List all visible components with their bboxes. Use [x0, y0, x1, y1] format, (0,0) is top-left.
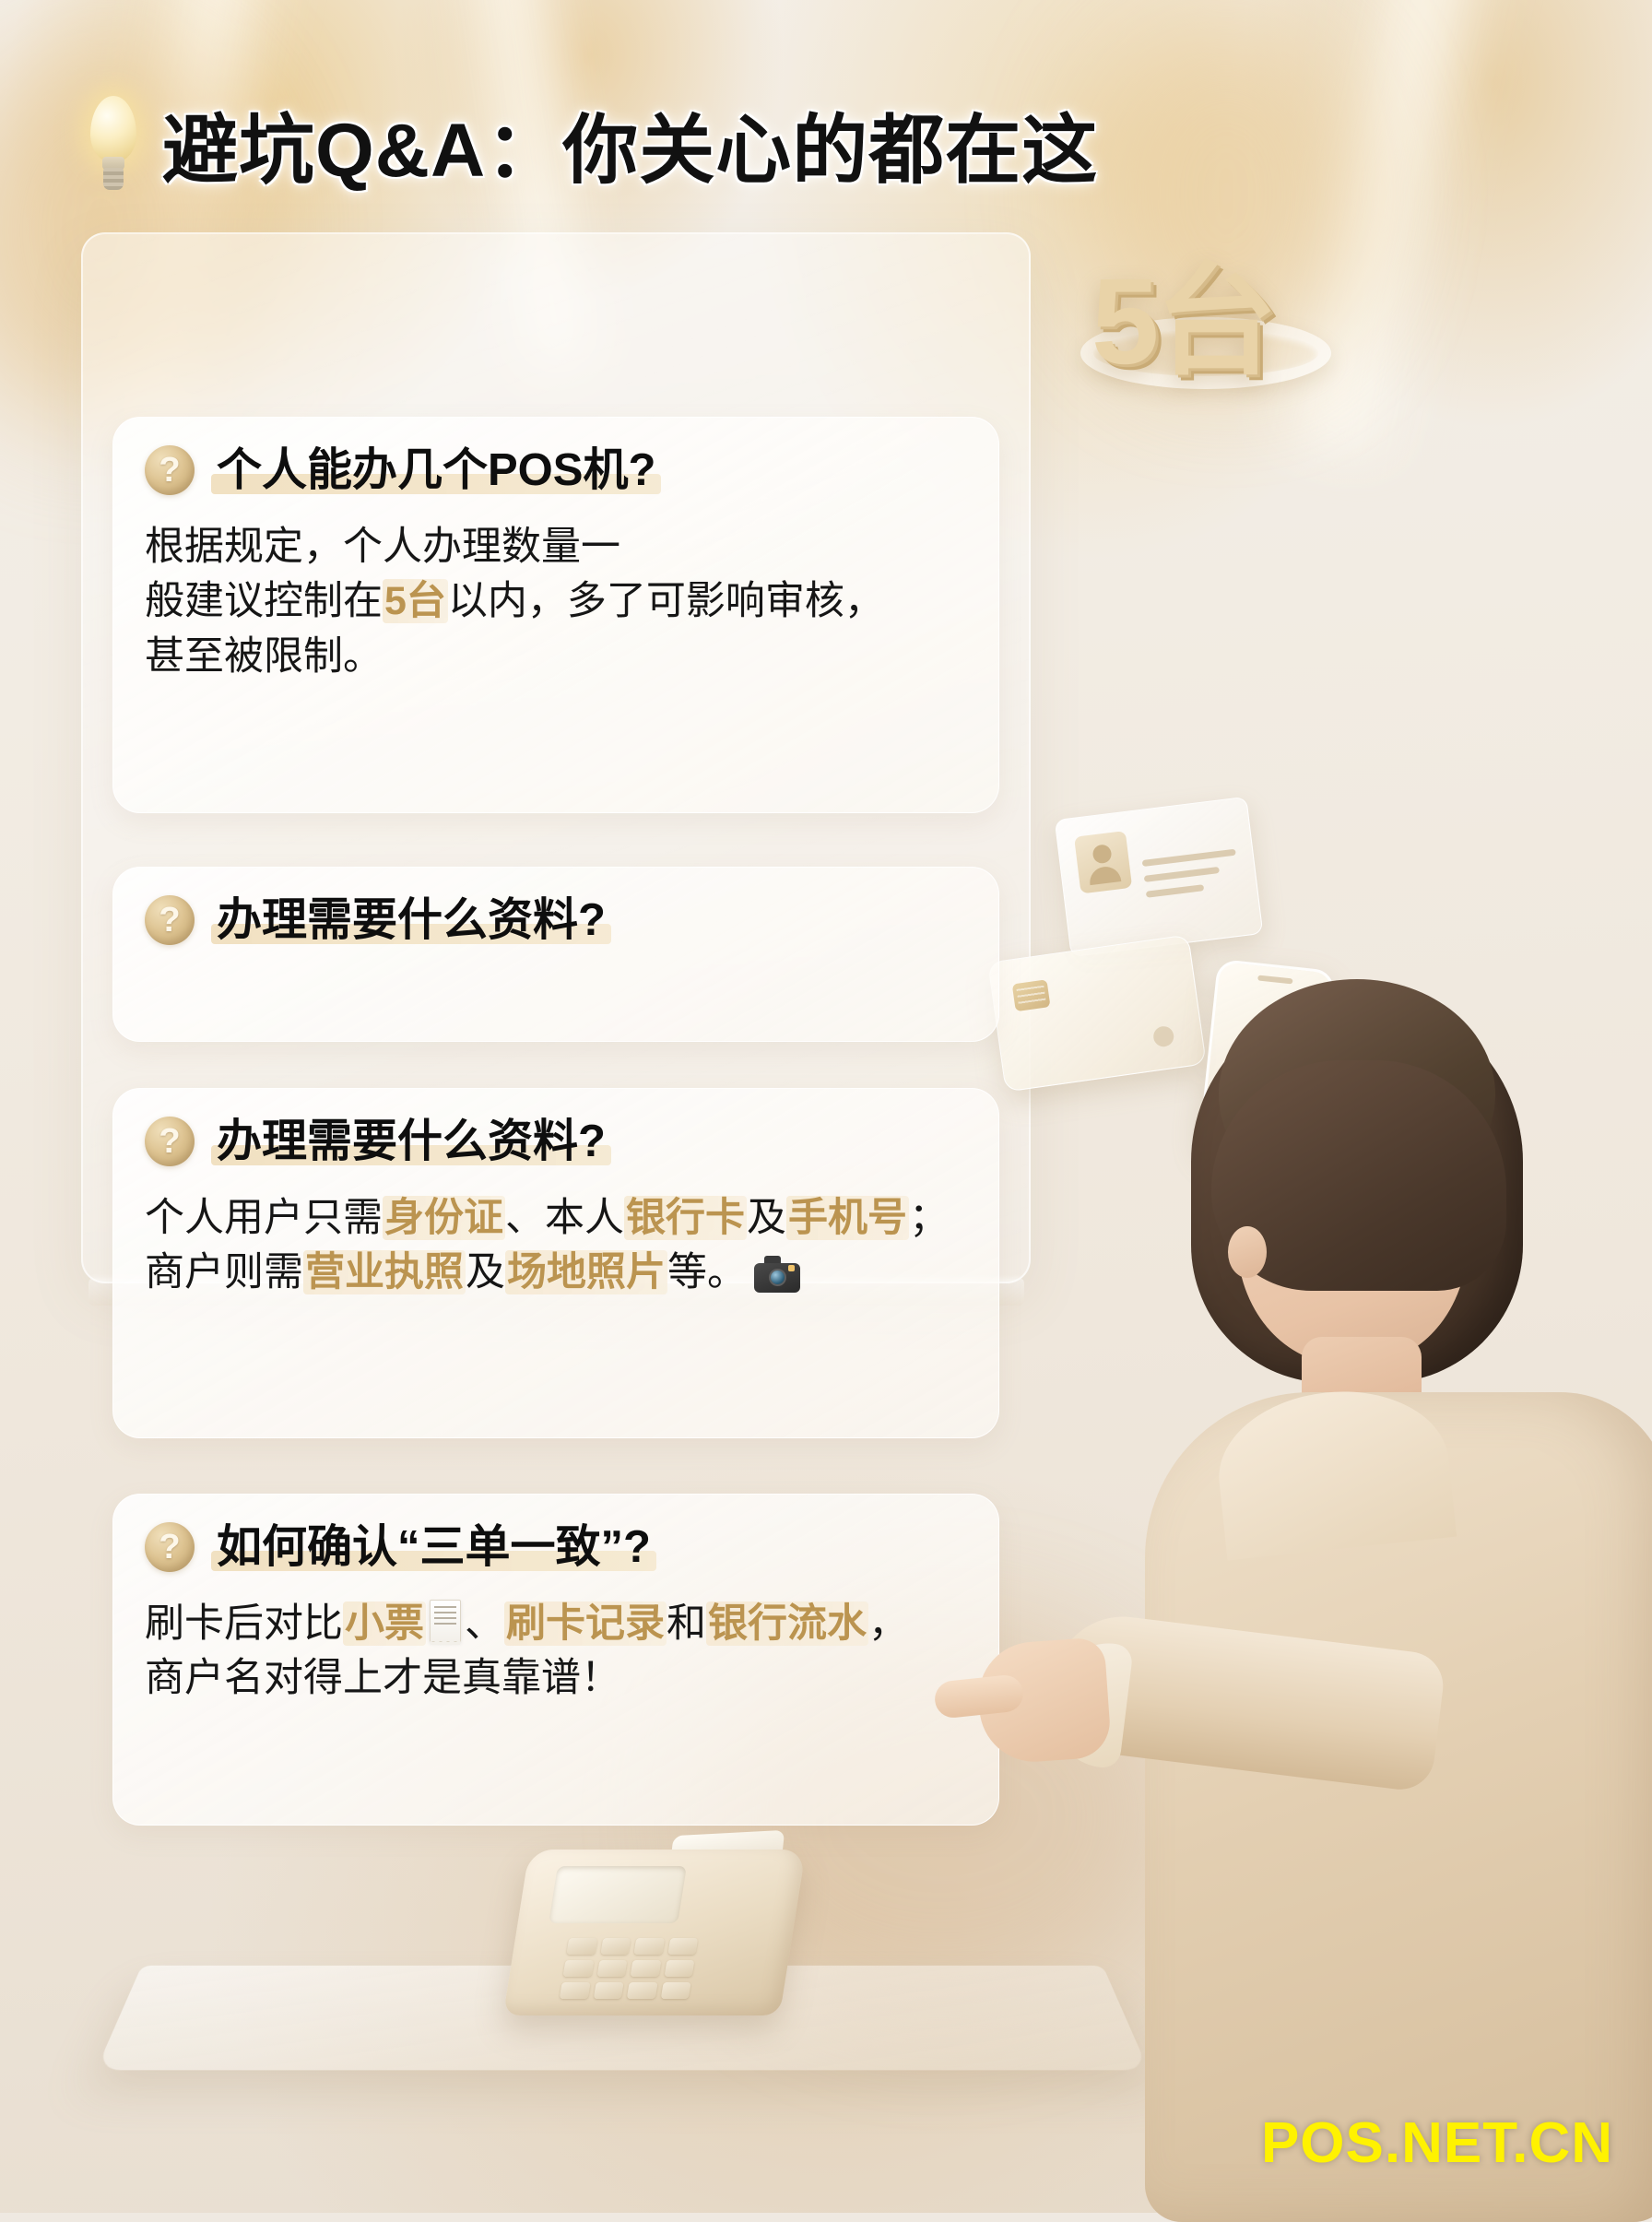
highlight-card-record: 刷卡记录	[504, 1601, 667, 1646]
question-mark-icon: ?	[145, 1522, 195, 1572]
question-row: ? 个人能办几个POS机?	[145, 445, 963, 496]
question-row: ? 如何确认“三单一致”?	[145, 1522, 963, 1573]
pos-keypad	[560, 1938, 698, 1999]
question-row: ? 办理需要什么资料?	[145, 1117, 963, 1167]
answer-text: 个人用户只需身份证、本人银行卡及手机号； 商户则需营业执照及场地照片等。	[145, 1191, 963, 1301]
receipt-icon	[430, 1600, 461, 1642]
pos-screen	[549, 1866, 687, 1923]
highlight-business-license: 营业执照	[303, 1250, 466, 1294]
camera-icon	[754, 1256, 800, 1293]
watermark: POS.NET.CN	[1261, 2110, 1613, 2176]
question-mark-icon: ?	[145, 895, 195, 945]
lightbulb-icon	[85, 96, 142, 192]
question-mark-icon: ?	[145, 1117, 195, 1166]
ear	[1228, 1226, 1267, 1278]
highlight-bank-card: 银行卡	[624, 1196, 747, 1240]
id-photo	[1074, 831, 1132, 893]
qa-card-1[interactable]: ? 个人能办几个POS机? 根据规定，个人办理数量一 般建议控制在5台以内，多了…	[112, 417, 999, 813]
highlight-id-card: 身份证	[383, 1196, 505, 1240]
question-mark-icon: ?	[145, 445, 195, 495]
question-text: 办理需要什么资料?	[211, 895, 611, 946]
highlight-receipt: 小票	[343, 1601, 426, 1646]
highlight-phone-number: 手机号	[786, 1196, 909, 1240]
id-card-icon	[1055, 797, 1264, 957]
question-row: ? 办理需要什么资料?	[145, 895, 963, 946]
qa-card-3[interactable]: ? 办理需要什么资料? 个人用户只需身份证、本人银行卡及手机号； 商户则需营业执…	[112, 1088, 999, 1438]
question-text: 如何确认“三单一致”?	[211, 1522, 656, 1573]
page-header: 避坑Q&A：你关心的都在这	[85, 89, 1098, 198]
qa-card-2[interactable]: ? 办理需要什么资料?	[112, 867, 999, 1042]
id-text-lines	[1139, 818, 1244, 928]
woman-3d-figure	[914, 996, 1652, 2213]
page-title: 避坑Q&A：你关心的都在这	[162, 89, 1098, 198]
highlight-bank-statement: 银行流水	[706, 1601, 868, 1646]
highlight-site-photo: 场地照片	[505, 1250, 667, 1294]
answer-text: 根据规定，个人办理数量一 般建议控制在5台以内，多了可影响审核， 甚至被限制。	[145, 520, 963, 684]
five-units-label: 5台	[1091, 223, 1273, 399]
question-text: 个人能办几个POS机?	[211, 445, 661, 496]
qa-card-4[interactable]: ? 如何确认“三单一致”? 刷卡后对比小票、刷卡记录和银行流水， 商户名对得上才…	[112, 1494, 999, 1826]
question-text: 办理需要什么资料?	[211, 1117, 611, 1167]
answer-text: 刷卡后对比小票、刷卡记录和银行流水， 商户名对得上才是真靠谱！	[145, 1597, 963, 1707]
pos-terminal-icon	[516, 1826, 820, 2038]
highlight-five-units: 5台	[383, 579, 448, 623]
five-units-illustration: 5台	[1080, 238, 1348, 422]
